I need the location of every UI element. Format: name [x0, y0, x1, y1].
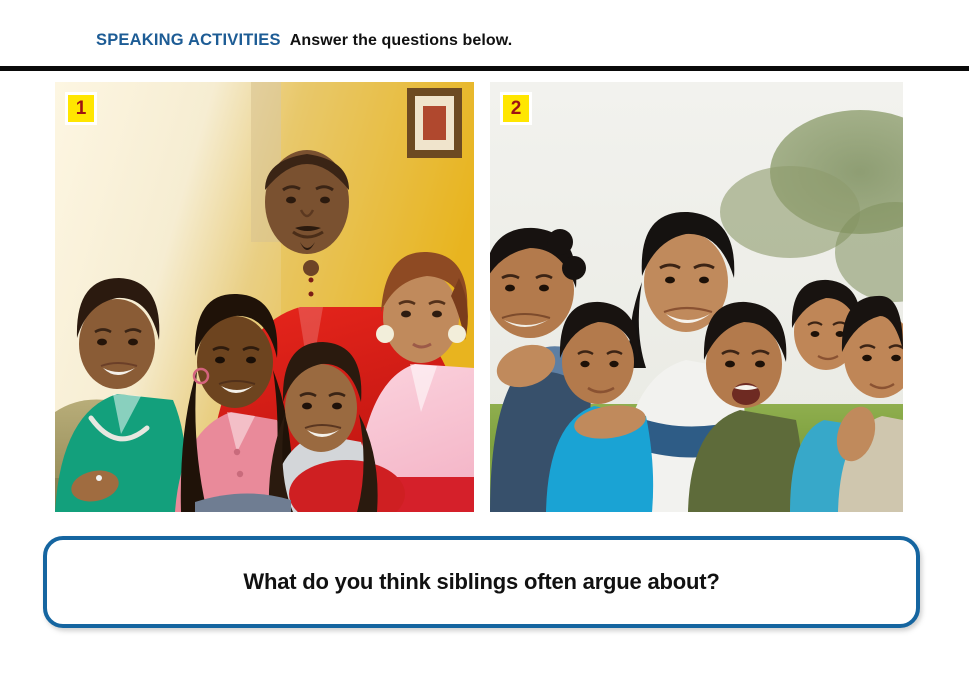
photo-badge-1: 1 [65, 92, 97, 125]
section-label: SPEAKING ACTIVITIES [96, 31, 281, 49]
page-header: SPEAKING ACTIVITIESAnswer the questions … [0, 0, 969, 65]
header-divider [0, 66, 969, 71]
question-box[interactable]: What do you think siblings often argue a… [43, 536, 920, 628]
photo-badge-2: 2 [500, 92, 532, 125]
question-text: What do you think siblings often argue a… [243, 569, 719, 595]
photo-1-illustration [55, 82, 474, 512]
photo-panel-2[interactable]: 2 [490, 82, 903, 512]
instruction-text: Answer the questions below. [290, 32, 513, 49]
header-text-group: SPEAKING ACTIVITIESAnswer the questions … [96, 31, 512, 50]
photo-2-illustration [490, 82, 903, 512]
photo-panel-1[interactable]: 1 [55, 82, 474, 512]
